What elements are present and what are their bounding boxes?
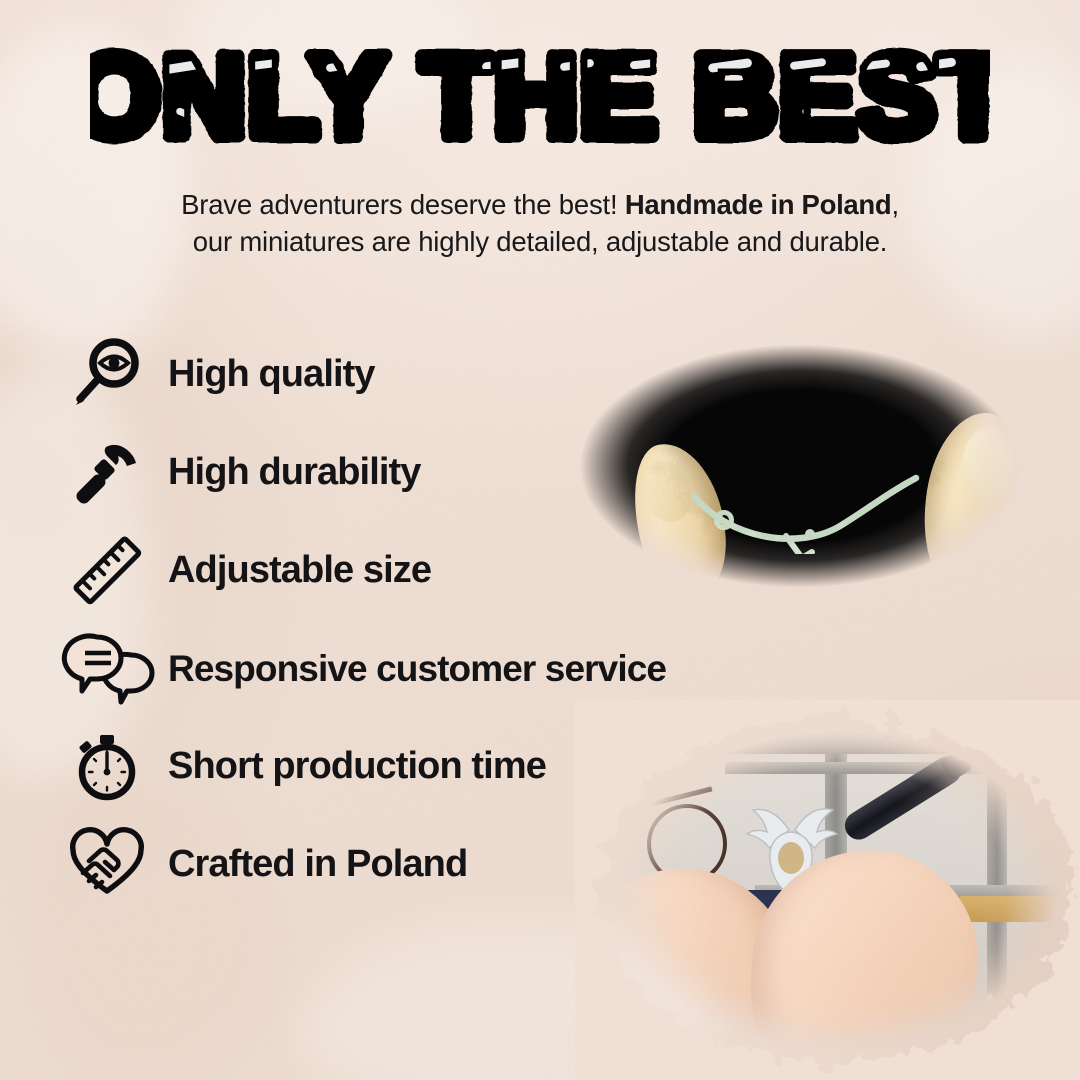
feature-label: Adjustable size [168, 551, 431, 589]
subtitle-lead: Brave adventurers deserve the best! [181, 189, 625, 220]
subtitle-emphasis: Handmade in Poland [625, 189, 892, 220]
subtitle-line-2: our miniatures are highly detailed, adju… [90, 223, 990, 260]
speech-bubbles-icon [62, 628, 152, 708]
feature-label: Crafted in Poland [168, 845, 467, 883]
promo-graphic: ONLY THE BEST ONLY THE BEST [0, 0, 1080, 1080]
miniature-tray [885, 716, 1065, 738]
subtitle-line-1: Brave adventurers deserve the best! Hand… [90, 186, 990, 223]
photo-content [575, 700, 1080, 1080]
magnifier-eye-icon [62, 334, 152, 414]
handshake-heart-icon [62, 824, 152, 904]
headline: ONLY THE BEST ONLY THE BEST [0, 36, 1080, 166]
workshop-scene [575, 700, 1080, 1080]
workshop-painting-photo [575, 700, 1080, 1080]
feature-label: High durability [168, 453, 421, 491]
subtitle-tail: , [891, 189, 898, 220]
hammer-icon [62, 432, 152, 512]
miniature-chain-closeup-photo [540, 316, 1060, 616]
shelf-board [960, 896, 1080, 922]
subtitle: Brave adventurers deserve the best! Hand… [90, 186, 990, 260]
feature-label: Responsive customer service [168, 650, 666, 687]
miniature-tray [747, 710, 877, 732]
miniature-chain [690, 474, 930, 554]
fingertip-right [913, 406, 1036, 597]
photo-black-backdrop [540, 316, 1060, 616]
feature-label: High quality [168, 355, 375, 393]
shelf-beam [725, 762, 1080, 774]
ruler-icon [62, 530, 152, 610]
feature-label: Short production time [168, 747, 546, 785]
stopwatch-icon [62, 726, 152, 806]
headline-text: ONLY THE BEST [90, 36, 990, 161]
